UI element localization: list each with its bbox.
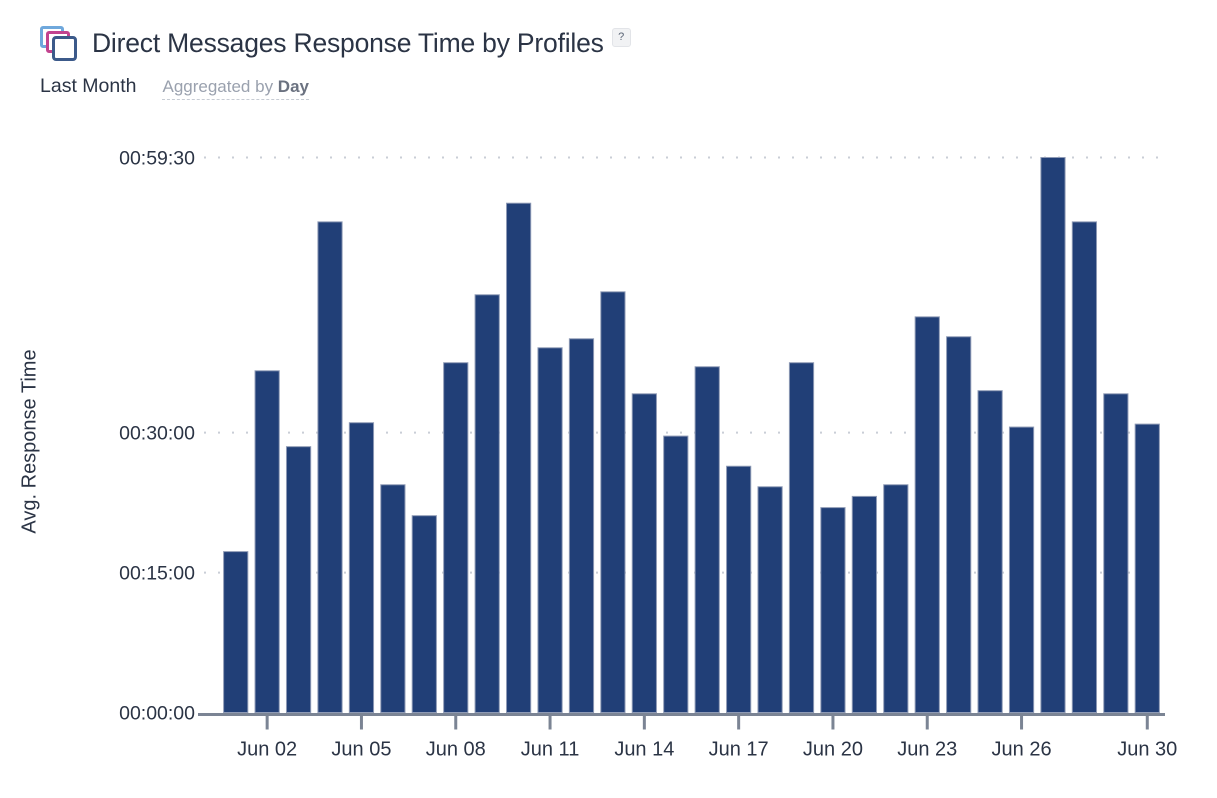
bar[interactable]: Jun 27 — 00:59:30 [1041, 158, 1065, 713]
bar[interactable]: Jun 30 — 00:30:55 [1135, 424, 1159, 712]
bar[interactable]: Jun 29 — 00:34:10 [1104, 394, 1128, 713]
y-tick-label: 00:15:00 [119, 563, 195, 585]
bars-group: Jun 01 — 00:17:15Jun 02 — 00:36:38Jun 03… [224, 158, 1160, 713]
bar[interactable]: Jun 08 — 00:37:30 [444, 363, 468, 713]
bar[interactable]: Jun 01 — 00:17:15 [224, 552, 248, 713]
bar[interactable]: Jun 14 — 00:34:10 [632, 394, 656, 713]
bar[interactable]: Jun 02 — 00:36:38 [255, 371, 279, 713]
x-tick-label: Jun 14 [614, 739, 674, 761]
bar[interactable]: Jun 19 — 00:37:30 [789, 363, 813, 713]
x-tick-label: Jun 23 [897, 739, 957, 761]
bar[interactable]: Jun 12 — 00:40:04 [569, 339, 593, 713]
x-tick-label: Jun 17 [709, 739, 769, 761]
stacked-profiles-icon [40, 26, 78, 62]
bar[interactable]: Jun 24 — 00:40:17 [947, 337, 971, 713]
title-row: Direct Messages Response Time by Profile… [40, 22, 1180, 66]
x-tick-label: Jun 08 [426, 739, 486, 761]
widget-container: Direct Messages Response Time by Profile… [0, 0, 1217, 798]
aggregation-selector[interactable]: Aggregated by Day [162, 77, 309, 100]
bar[interactable]: Jun 18 — 00:24:12 [758, 487, 782, 713]
bar[interactable]: Jun 06 — 00:24:25 [381, 485, 405, 713]
bar[interactable]: Jun 05 — 00:31:04 [349, 423, 373, 713]
x-tick-label: Jun 05 [331, 739, 391, 761]
bar[interactable]: Jun 20 — 00:21:58 [821, 508, 845, 713]
bar[interactable]: Jun 25 — 00:34:30 [978, 391, 1002, 713]
bar[interactable]: Jun 09 — 00:44:47 [475, 295, 499, 713]
widget-header: Direct Messages Response Time by Profile… [40, 22, 1180, 101]
bar[interactable]: Jun 22 — 00:24:25 [884, 485, 908, 713]
bar[interactable]: Jun 13 — 00:45:06 [601, 292, 625, 713]
x-tick-labels: Jun 02Jun 05Jun 08Jun 11Jun 14Jun 17Jun … [237, 739, 1177, 761]
x-tick-label: Jun 11 [521, 739, 580, 761]
bar[interactable]: Jun 17 — 00:26:24 [727, 466, 751, 712]
x-tick-label: Jun 26 [992, 739, 1052, 761]
y-tick-label: 00:00:00 [119, 703, 195, 725]
subtitle-row: Last Month Aggregated by Day [40, 75, 1180, 101]
page-title: Direct Messages Response Time by Profile… [92, 28, 631, 61]
bar[interactable]: Jun 15 — 00:29:38 [664, 436, 688, 712]
bar-chart: Jun 01 — 00:17:15Jun 02 — 00:36:38Jun 03… [0, 0, 1217, 798]
axis-lines [198, 715, 1165, 730]
aggregation-value: Day [278, 77, 309, 96]
y-axis-title: Avg. Response Time [0, 0, 40, 798]
bar[interactable]: Jun 21 — 00:23:10 [852, 496, 876, 712]
bar[interactable]: Jun 04 — 00:52:36 [318, 222, 342, 713]
x-tick-label: Jun 20 [803, 739, 863, 761]
x-tick-label: Jun 02 [237, 739, 297, 761]
y-tick-label: 00:30:00 [119, 423, 195, 445]
chart-svg: Jun 01 — 00:17:15Jun 02 — 00:36:38Jun 03… [0, 0, 1217, 798]
grid-lines [204, 158, 1167, 573]
help-icon[interactable]: ? [612, 28, 631, 47]
bar[interactable]: Jun 16 — 00:37:04 [695, 367, 719, 713]
bar[interactable]: Jun 10 — 00:54:36 [507, 203, 531, 712]
bar[interactable]: Jun 03 — 00:28:30 [286, 447, 310, 713]
x-tick-label: Jun 30 [1117, 739, 1177, 761]
bar[interactable]: Jun 28 — 00:52:36 [1072, 222, 1096, 713]
aggregation-prefix: Aggregated by [162, 77, 277, 96]
y-tick-label: 00:59:30 [119, 148, 195, 170]
bar[interactable]: Jun 26 — 00:30:36 [1009, 427, 1033, 712]
bar[interactable]: Jun 07 — 00:21:06 [412, 516, 436, 713]
y-tick-labels: 00:00:0000:15:0000:30:0000:59:30 [119, 148, 195, 725]
y-axis-title-text: Avg. Response Time [19, 292, 42, 592]
widget-title-text: Direct Messages Response Time by Profile… [92, 28, 604, 58]
bar[interactable]: Jun 23 — 00:42:25 [915, 317, 939, 713]
period-label: Last Month [40, 75, 136, 98]
bar[interactable]: Jun 11 — 00:39:06 [538, 348, 562, 713]
